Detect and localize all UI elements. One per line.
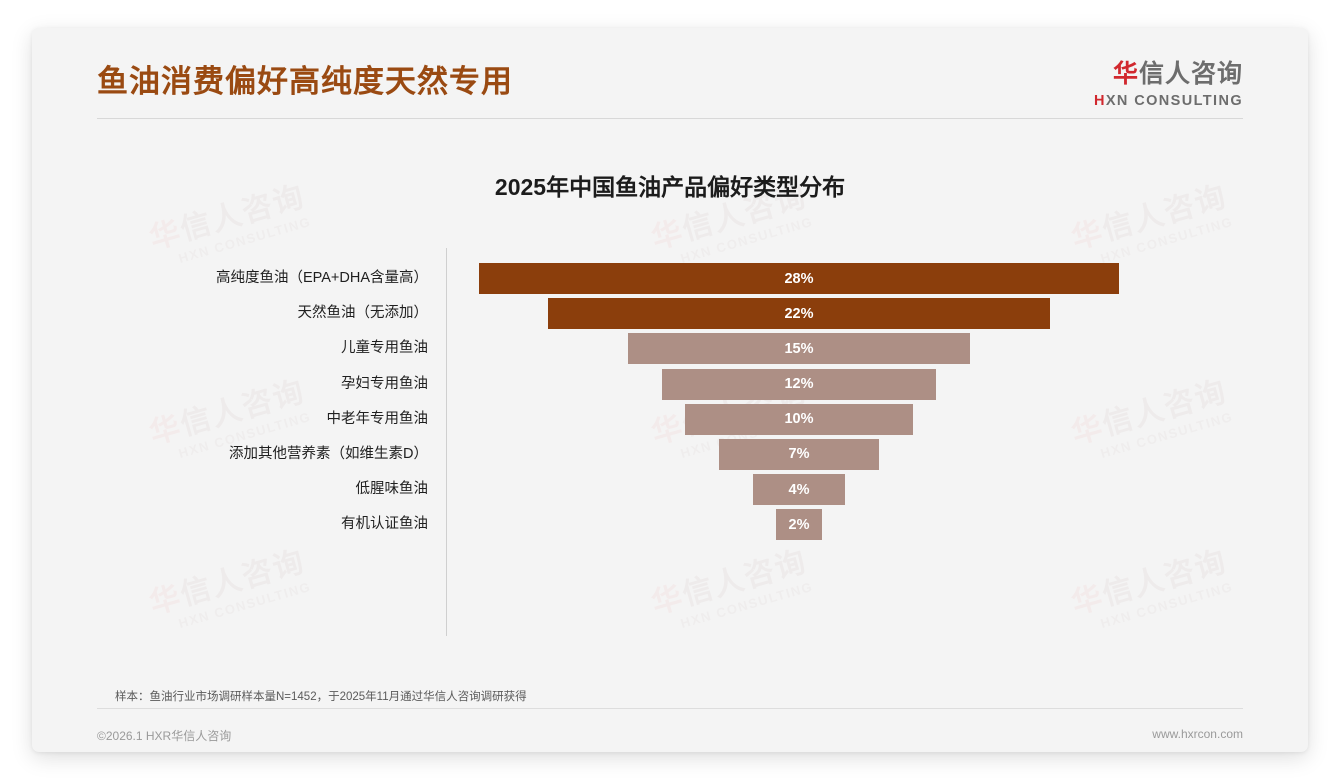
funnel-value-label: 15% xyxy=(784,341,813,357)
page-title: 鱼油消费偏好高纯度天然专用 xyxy=(97,56,513,101)
slide-header: 鱼油消费偏好高纯度天然专用 华信人咨询 HXN CONSULTING xyxy=(32,28,1308,119)
funnel-bar-track: 22% xyxy=(32,296,1308,331)
footer-copyright: ©2026.1 HXR华信人咨询 xyxy=(97,727,231,744)
funnel-bar-track: 2% xyxy=(32,507,1308,542)
funnel-bar[interactable]: 10% xyxy=(685,404,914,435)
brand-logo-cn: 华信人咨询 xyxy=(1094,62,1243,87)
funnel-bar[interactable]: 28% xyxy=(479,263,1119,294)
funnel-bar-track: 7% xyxy=(32,437,1308,472)
funnel-bar[interactable]: 12% xyxy=(662,369,936,400)
funnel-bar[interactable]: 4% xyxy=(753,474,844,505)
brand-logo-en-rest: XN CONSULTING xyxy=(1106,93,1243,109)
funnel-row[interactable]: 有机认证鱼油2% xyxy=(32,507,1308,542)
funnel-bar[interactable]: 22% xyxy=(548,298,1051,329)
funnel-row[interactable]: 中老年专用鱼油10% xyxy=(32,402,1308,437)
funnel-row[interactable]: 高纯度鱼油（EPA+DHA含量高）28% xyxy=(32,261,1308,296)
header-divider xyxy=(97,118,1243,119)
funnel-bar-track: 10% xyxy=(32,402,1308,437)
funnel-value-label: 12% xyxy=(784,376,813,392)
footer-divider xyxy=(97,708,1243,709)
funnel-row[interactable]: 低腥味鱼油4% xyxy=(32,472,1308,507)
funnel-value-label: 2% xyxy=(789,517,810,533)
brand-logo-accent-char: 华 xyxy=(1113,60,1139,88)
funnel-value-label: 7% xyxy=(789,446,810,462)
brand-logo-en: HXN CONSULTING xyxy=(1094,94,1243,109)
funnel-chart: 高纯度鱼油（EPA+DHA含量高）28%天然鱼油（无添加）22%儿童专用鱼油15… xyxy=(32,233,1308,643)
funnel-bar[interactable]: 15% xyxy=(628,333,971,364)
funnel-bar-track: 4% xyxy=(32,472,1308,507)
funnel-row[interactable]: 孕妇专用鱼油12% xyxy=(32,367,1308,402)
funnel-bar-track: 28% xyxy=(32,261,1308,296)
funnel-value-label: 28% xyxy=(784,271,813,287)
funnel-value-label: 22% xyxy=(784,306,813,322)
funnel-row[interactable]: 天然鱼油（无添加）22% xyxy=(32,296,1308,331)
chart-source-note: 样本：鱼油行业市场调研样本量N=1452，于2025年11月通过华信人咨询调研获… xyxy=(115,688,527,704)
brand-logo-en-accent: H xyxy=(1094,93,1106,109)
funnel-rows: 高纯度鱼油（EPA+DHA含量高）28%天然鱼油（无添加）22%儿童专用鱼油15… xyxy=(32,261,1308,543)
brand-logo-cn-rest: 信人咨询 xyxy=(1139,60,1243,88)
slide-card: 华信人咨询 HXN CONSULTING 华信人咨询 HXN CONSULTIN… xyxy=(32,28,1308,752)
funnel-bar[interactable]: 2% xyxy=(776,509,822,540)
funnel-row[interactable]: 儿童专用鱼油15% xyxy=(32,331,1308,366)
funnel-bar[interactable]: 7% xyxy=(719,439,879,470)
funnel-value-label: 4% xyxy=(789,482,810,498)
funnel-bar-track: 15% xyxy=(32,331,1308,366)
brand-logo: 华信人咨询 HXN CONSULTING xyxy=(1094,62,1243,109)
chart-title: 2025年中国鱼油产品偏好类型分布 xyxy=(32,168,1308,202)
funnel-value-label: 10% xyxy=(784,411,813,427)
slide-footer: ©2026.1 HXR华信人咨询 www.hxrcon.com xyxy=(32,719,1308,752)
funnel-bar-track: 12% xyxy=(32,367,1308,402)
footer-website: www.hxrcon.com xyxy=(1152,727,1243,741)
funnel-row[interactable]: 添加其他营养素（如维生素D）7% xyxy=(32,437,1308,472)
